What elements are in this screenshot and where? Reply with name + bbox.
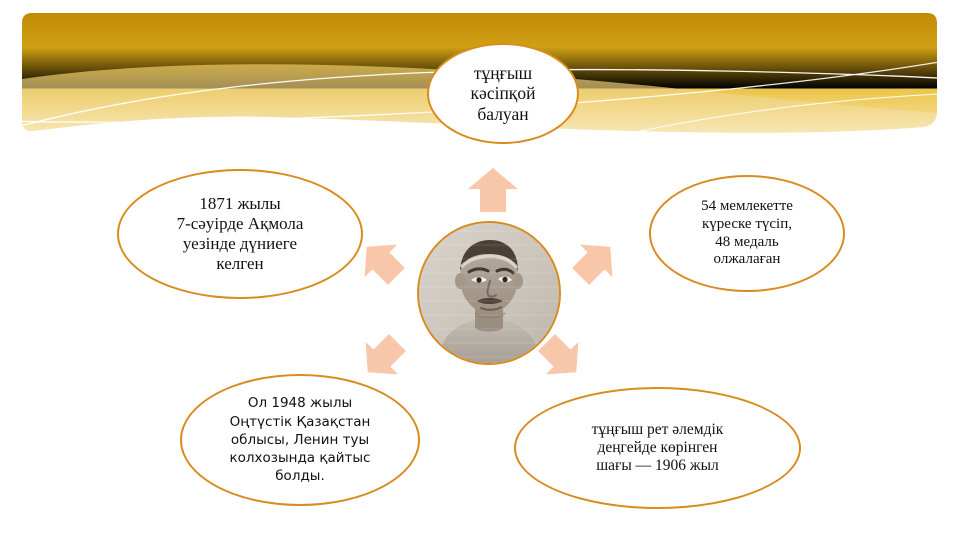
oval-top[interactable]: тұңғыш кәсіпқой балуан: [427, 43, 579, 144]
oval-bottom-left-label: Ол 1948 жылы Оңтүстік Қазақстан облысы, …: [196, 394, 404, 485]
arrow-up-right-icon: [568, 237, 620, 289]
oval-left[interactable]: 1871 жылы 7-сәуірде Ақмола уезінде дүние…: [117, 169, 363, 299]
arrow-down-left-icon: [358, 330, 410, 382]
oval-bottom-left[interactable]: Ол 1948 жылы Оңтүстік Қазақстан облысы, …: [180, 374, 420, 506]
center-portrait-photo: [417, 221, 561, 365]
oval-top-label: тұңғыш кәсіпқой балуан: [442, 63, 563, 125]
oval-bottom-right[interactable]: тұңғыш рет әлемдік деңгейде көрінген шағ…: [514, 387, 801, 509]
slide-canvas: тұңғыш кәсіпқой балуан 1871 жылы 7-сәуір…: [0, 0, 960, 540]
oval-left-label: 1871 жылы 7-сәуірде Ақмола уезінде дүние…: [141, 194, 339, 274]
arrow-up-icon: [467, 167, 519, 213]
oval-bottom-right-label: тұңғыш рет әлемдік деңгейде көрінген шағ…: [541, 421, 773, 476]
oval-right-label: 54 мемлекетте күреске түсіп, 48 медаль о…: [668, 198, 825, 269]
oval-right[interactable]: 54 мемлекетте күреске түсіп, 48 медаль о…: [649, 175, 845, 292]
arrow-up-left-icon: [357, 237, 409, 289]
